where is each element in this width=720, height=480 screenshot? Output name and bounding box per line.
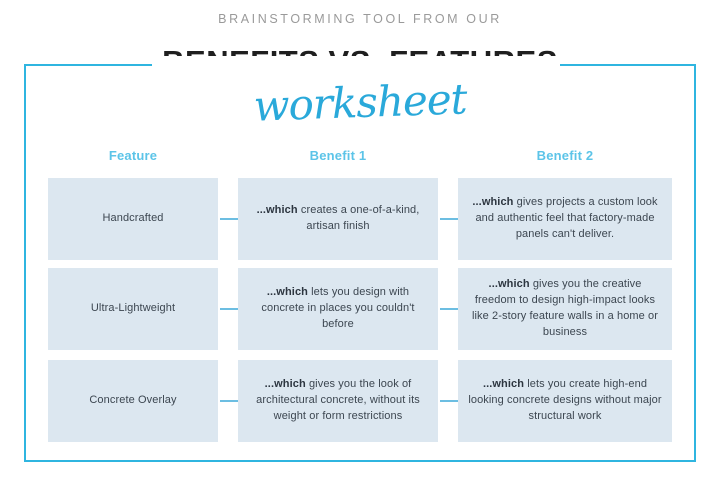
eyebrow-text: BRAINSTORMING TOOL FROM OUR — [0, 12, 720, 26]
benefit-2-text: ...which gives projects a custom look an… — [468, 195, 662, 243]
table-row: Handcrafted ...which creates a one-of-a-… — [48, 178, 672, 260]
feature-label: Concrete Overlay — [58, 393, 208, 409]
column-header-feature: Feature — [48, 148, 218, 163]
table-row: Ultra-Lightweight ...which lets you desi… — [48, 268, 672, 350]
which-lead: ...which — [489, 278, 530, 290]
which-lead: ...which — [265, 378, 306, 390]
feature-cell[interactable]: Handcrafted — [48, 178, 218, 260]
feature-cell[interactable]: Ultra-Lightweight — [48, 268, 218, 350]
benefit-2-text: ...which gives you the creative freedom … — [468, 277, 662, 341]
benefit-2-text: ...which lets you create high-end lookin… — [468, 377, 662, 425]
benefit-2-cell[interactable]: ...which gives projects a custom look an… — [458, 178, 672, 260]
which-lead: ...which — [472, 196, 513, 208]
column-header-benefit-1: Benefit 1 — [238, 148, 438, 163]
benefit-2-cell[interactable]: ...which lets you create high-end lookin… — [458, 360, 672, 442]
feature-label: Ultra-Lightweight — [58, 301, 208, 317]
which-rest: creates a one-of-a-kind, artisan finish — [298, 204, 420, 232]
which-lead: ...which — [483, 378, 524, 390]
benefit-1-cell[interactable]: ...which lets you design with concrete i… — [238, 268, 438, 350]
benefit-1-cell[interactable]: ...which gives you the look of architect… — [238, 360, 438, 442]
worksheet-grid: Handcrafted ...which creates a one-of-a-… — [48, 178, 672, 442]
benefit-1-text: ...which creates a one-of-a-kind, artisa… — [248, 203, 428, 235]
table-row: Concrete Overlay ...which gives you the … — [48, 360, 672, 442]
feature-cell[interactable]: Concrete Overlay — [48, 360, 218, 442]
column-headers: Feature Benefit 1 Benefit 2 — [48, 148, 672, 168]
which-lead: ...which — [267, 286, 308, 298]
which-lead: ...which — [257, 204, 298, 216]
benefit-1-cell[interactable]: ...which creates a one-of-a-kind, artisa… — [238, 178, 438, 260]
worksheet-page: BRAINSTORMING TOOL FROM OUR BENEFITS VS.… — [0, 0, 720, 480]
benefit-2-cell[interactable]: ...which gives you the creative freedom … — [458, 268, 672, 350]
benefit-1-text: ...which gives you the look of architect… — [248, 377, 428, 425]
benefit-1-text: ...which lets you design with concrete i… — [248, 285, 428, 333]
feature-label: Handcrafted — [58, 211, 208, 227]
column-header-benefit-2: Benefit 2 — [458, 148, 672, 163]
